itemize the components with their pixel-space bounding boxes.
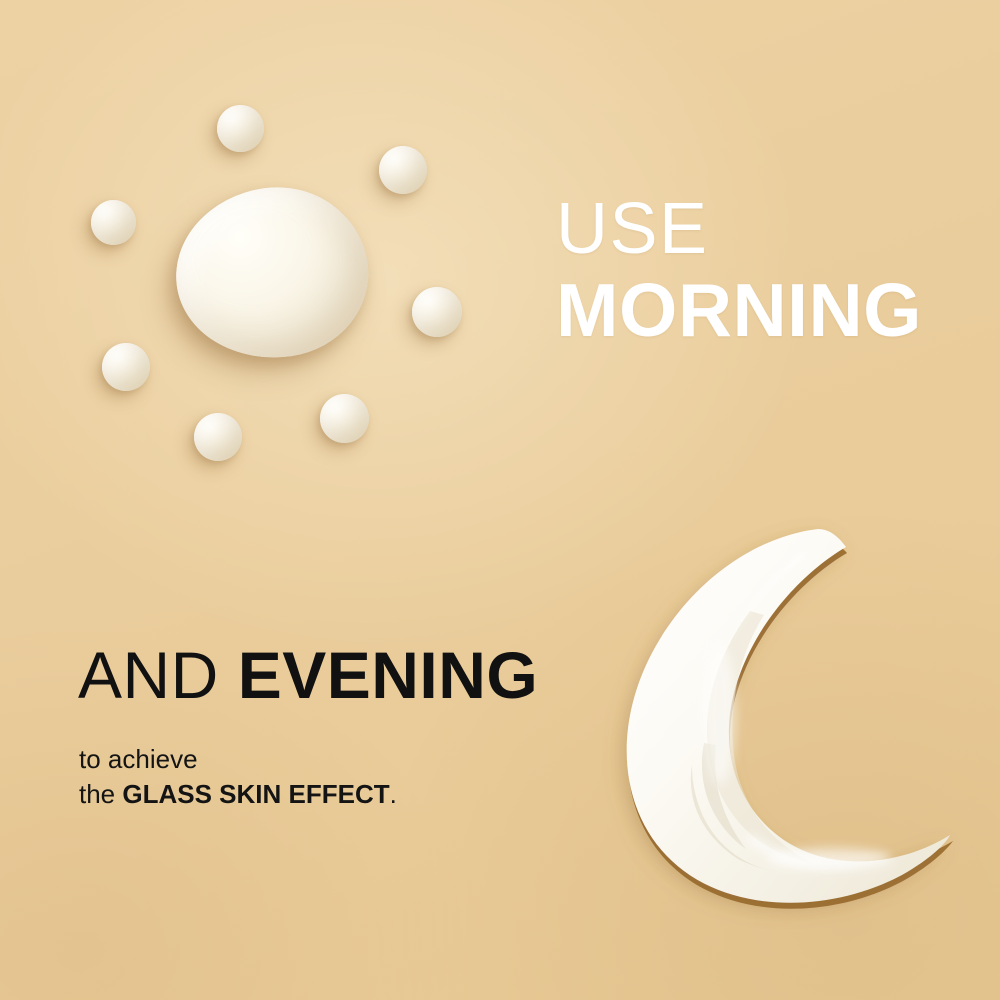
ray-southeast-droplet: [320, 394, 369, 443]
subcopy-line-2-suffix: .: [390, 779, 397, 809]
ray-east-droplet: [412, 287, 462, 337]
sun-icon: [0, 0, 520, 520]
ray-south-droplet: [194, 413, 242, 461]
evening-headline: AND EVENING: [78, 642, 698, 708]
headline-space: [219, 638, 238, 712]
ray-north-droplet: [217, 105, 264, 152]
morning-headline: USE MORNING: [556, 192, 976, 349]
headline-use: USE: [556, 192, 976, 267]
subcopy-emphasis-glass-skin-effect: GLASS SKIN EFFECT: [122, 779, 389, 809]
ray-northeast-droplet: [379, 146, 427, 194]
headline-evening: EVENING: [238, 638, 539, 712]
subcopy-line-1: to achieve: [79, 742, 397, 777]
poster-canvas: USE MORNING AND EVENING to achieve the G…: [0, 0, 1000, 1000]
ray-west-droplet: [102, 343, 150, 391]
headline-and: AND: [78, 638, 219, 712]
headline-morning: MORNING: [556, 271, 976, 349]
large-cream-blob: [165, 175, 379, 370]
evening-headline-line: AND EVENING: [78, 642, 698, 708]
subcopy-line-2-prefix: the: [79, 779, 122, 809]
subcopy-block: to achieve the GLASS SKIN EFFECT.: [79, 742, 397, 811]
ray-northwest-droplet: [91, 200, 136, 245]
subcopy-line-2: the GLASS SKIN EFFECT.: [79, 777, 397, 812]
crescent-moon-icon: [600, 515, 950, 915]
